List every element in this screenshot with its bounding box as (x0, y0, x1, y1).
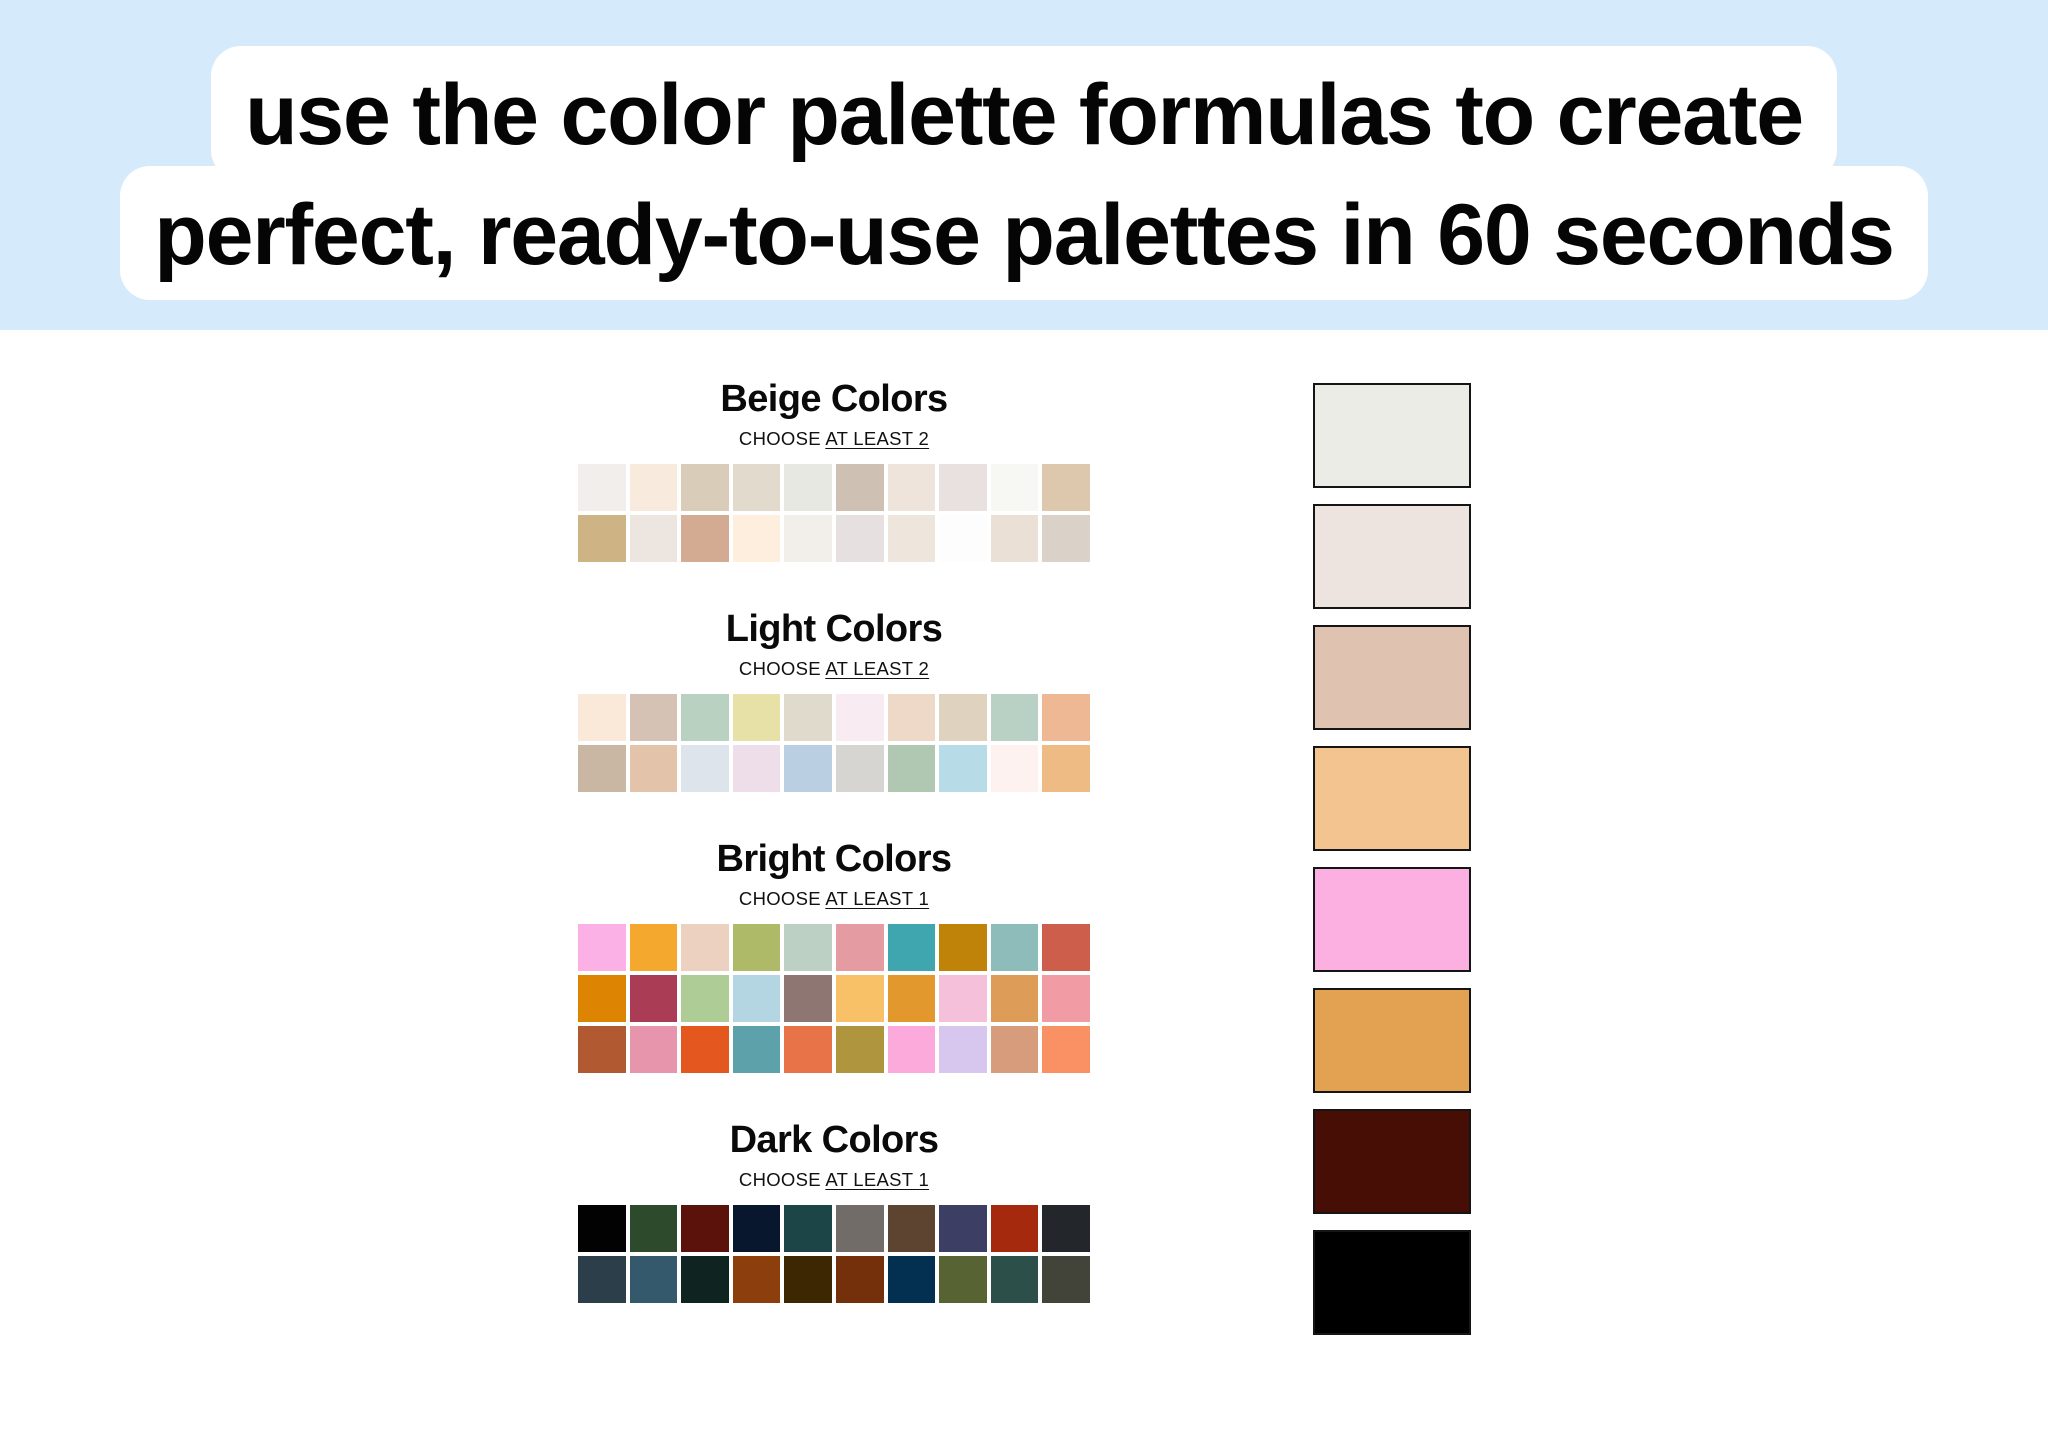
color-swatch[interactable] (630, 1026, 678, 1073)
formula-group-dark: Dark ColorsCHOOSE AT LEAST 1 (578, 1121, 1090, 1303)
color-swatch[interactable] (784, 975, 832, 1022)
color-swatch[interactable] (836, 694, 884, 741)
color-swatch[interactable] (888, 924, 936, 971)
chosen-swatch[interactable] (1313, 1230, 1471, 1335)
color-swatch[interactable] (939, 975, 987, 1022)
color-swatch[interactable] (888, 1205, 936, 1252)
color-swatch[interactable] (630, 1205, 678, 1252)
color-swatch[interactable] (733, 924, 781, 971)
color-swatch[interactable] (1042, 464, 1090, 511)
color-swatch[interactable] (836, 975, 884, 1022)
color-swatch[interactable] (1042, 1026, 1090, 1073)
color-swatch[interactable] (939, 924, 987, 971)
color-swatch[interactable] (681, 515, 729, 562)
color-swatch[interactable] (733, 1205, 781, 1252)
color-swatch[interactable] (681, 694, 729, 741)
color-swatch[interactable] (733, 1256, 781, 1303)
color-swatch[interactable] (733, 745, 781, 792)
color-swatch[interactable] (991, 694, 1039, 741)
color-swatch[interactable] (939, 464, 987, 511)
color-swatch[interactable] (630, 515, 678, 562)
swatch-row (578, 745, 1090, 792)
group-instruction-dark: CHOOSE AT LEAST 1 (578, 1169, 1090, 1191)
color-swatch[interactable] (991, 975, 1039, 1022)
color-swatch[interactable] (630, 1256, 678, 1303)
chosen-swatch[interactable] (1313, 625, 1471, 730)
color-swatch[interactable] (888, 745, 936, 792)
color-swatch[interactable] (578, 745, 626, 792)
color-swatch[interactable] (681, 1205, 729, 1252)
color-swatch[interactable] (888, 515, 936, 562)
color-swatch[interactable] (888, 464, 936, 511)
color-swatch[interactable] (1042, 1256, 1090, 1303)
formula-group-beige: Beige ColorsCHOOSE AT LEAST 2 (578, 380, 1090, 562)
color-swatch[interactable] (578, 1026, 626, 1073)
color-swatch[interactable] (888, 694, 936, 741)
color-swatch[interactable] (784, 1256, 832, 1303)
color-swatch[interactable] (991, 1256, 1039, 1303)
color-swatch[interactable] (784, 1026, 832, 1073)
color-swatch[interactable] (681, 1256, 729, 1303)
color-swatch[interactable] (578, 1256, 626, 1303)
color-swatch[interactable] (888, 975, 936, 1022)
color-swatch[interactable] (1042, 975, 1090, 1022)
color-swatch[interactable] (784, 694, 832, 741)
color-swatch[interactable] (1042, 745, 1090, 792)
color-swatch[interactable] (1042, 1205, 1090, 1252)
color-swatch[interactable] (939, 694, 987, 741)
color-swatch[interactable] (681, 745, 729, 792)
instruction-emphasis: AT LEAST 2 (825, 658, 929, 679)
color-swatch[interactable] (836, 1205, 884, 1252)
color-swatch[interactable] (991, 924, 1039, 971)
swatch-row (578, 1026, 1090, 1073)
formula-group-bright: Bright ColorsCHOOSE AT LEAST 1 (578, 840, 1090, 1073)
color-swatch[interactable] (578, 1205, 626, 1252)
color-swatch[interactable] (578, 464, 626, 511)
color-swatch[interactable] (630, 924, 678, 971)
color-swatch[interactable] (784, 515, 832, 562)
color-swatch[interactable] (784, 464, 832, 511)
headline-line-2: perfect, ready-to-use palettes in 60 sec… (120, 166, 1927, 300)
color-swatch[interactable] (733, 464, 781, 511)
color-swatch[interactable] (836, 464, 884, 511)
chosen-swatch[interactable] (1313, 383, 1471, 488)
color-swatch[interactable] (733, 515, 781, 562)
color-swatch[interactable] (939, 745, 987, 792)
group-instruction-beige: CHOOSE AT LEAST 2 (578, 428, 1090, 450)
chosen-palette-column (1313, 383, 1471, 1335)
color-swatch[interactable] (991, 1205, 1039, 1252)
color-swatch[interactable] (630, 745, 678, 792)
palette-formula-page: use the color palette formulas to create… (0, 0, 2048, 1433)
color-swatch[interactable] (681, 1026, 729, 1073)
instruction-prefix: CHOOSE (739, 888, 825, 909)
color-swatch[interactable] (939, 1026, 987, 1073)
group-title-bright: Bright Colors (578, 840, 1090, 880)
chosen-swatch[interactable] (1313, 1109, 1471, 1214)
color-swatch[interactable] (836, 1256, 884, 1303)
color-swatch[interactable] (681, 975, 729, 1022)
color-swatch[interactable] (681, 464, 729, 511)
group-instruction-light: CHOOSE AT LEAST 2 (578, 658, 1090, 680)
color-swatch[interactable] (1042, 694, 1090, 741)
instruction-prefix: CHOOSE (739, 1169, 825, 1190)
color-swatch[interactable] (1042, 515, 1090, 562)
formula-groups: Beige ColorsCHOOSE AT LEAST 2Light Color… (578, 380, 1090, 1303)
color-swatch[interactable] (733, 975, 781, 1022)
swatch-row (578, 975, 1090, 1022)
color-swatch[interactable] (836, 924, 884, 971)
swatch-row (578, 1256, 1090, 1303)
color-swatch[interactable] (1042, 924, 1090, 971)
color-swatch[interactable] (836, 745, 884, 792)
color-swatch[interactable] (733, 694, 781, 741)
chosen-swatch[interactable] (1313, 504, 1471, 609)
color-swatch[interactable] (681, 924, 729, 971)
headline-line-1: use the color palette formulas to create (211, 46, 1837, 180)
color-swatch[interactable] (578, 694, 626, 741)
formula-group-light: Light ColorsCHOOSE AT LEAST 2 (578, 610, 1090, 792)
color-swatch[interactable] (784, 745, 832, 792)
instruction-prefix: CHOOSE (739, 658, 825, 679)
color-swatch[interactable] (578, 515, 626, 562)
instruction-prefix: CHOOSE (739, 428, 825, 449)
group-instruction-bright: CHOOSE AT LEAST 1 (578, 888, 1090, 910)
swatch-row (578, 515, 1090, 562)
header-banner: use the color palette formulas to create… (0, 0, 2048, 330)
group-title-light: Light Colors (578, 610, 1090, 650)
instruction-emphasis: AT LEAST 1 (825, 888, 929, 909)
color-swatch[interactable] (939, 1205, 987, 1252)
color-swatch[interactable] (578, 924, 626, 971)
color-swatch[interactable] (836, 515, 884, 562)
color-swatch[interactable] (578, 975, 626, 1022)
color-swatch[interactable] (733, 1026, 781, 1073)
color-swatch[interactable] (630, 464, 678, 511)
color-swatch[interactable] (991, 515, 1039, 562)
color-swatch[interactable] (630, 975, 678, 1022)
headline-block: use the color palette formulas to create… (0, 46, 2048, 300)
color-swatch[interactable] (991, 1026, 1039, 1073)
swatch-row (578, 924, 1090, 971)
color-swatch[interactable] (630, 694, 678, 741)
chosen-swatch[interactable] (1313, 867, 1471, 972)
color-swatch[interactable] (939, 1256, 987, 1303)
instruction-emphasis: AT LEAST 2 (825, 428, 929, 449)
group-title-beige: Beige Colors (578, 380, 1090, 420)
swatch-row (578, 464, 1090, 511)
swatch-row (578, 694, 1090, 741)
group-title-dark: Dark Colors (578, 1121, 1090, 1161)
chosen-swatch[interactable] (1313, 746, 1471, 851)
color-swatch[interactable] (939, 515, 987, 562)
color-swatch[interactable] (991, 745, 1039, 792)
color-swatch[interactable] (888, 1026, 936, 1073)
swatch-row (578, 1205, 1090, 1252)
instruction-emphasis: AT LEAST 1 (825, 1169, 929, 1190)
color-swatch[interactable] (836, 1026, 884, 1073)
color-swatch[interactable] (888, 1256, 936, 1303)
color-swatch[interactable] (784, 924, 832, 971)
color-swatch[interactable] (784, 1205, 832, 1252)
color-swatch[interactable] (991, 464, 1039, 511)
chosen-swatch[interactable] (1313, 988, 1471, 1093)
